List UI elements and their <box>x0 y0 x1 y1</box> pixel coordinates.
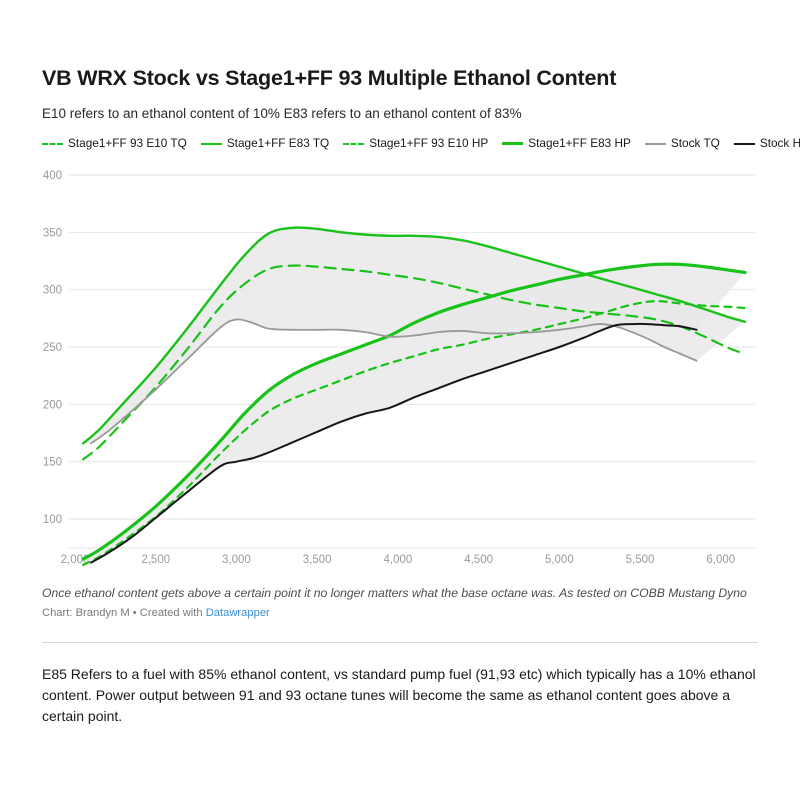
chart-page: VB WRX Stock vs Stage1+FF 93 Multiple Et… <box>0 0 800 800</box>
legend-label: Stock TQ <box>671 138 720 150</box>
legend-swatch-icon <box>645 143 666 145</box>
legend-swatch-icon <box>42 143 63 145</box>
legend-swatch-icon <box>502 142 523 145</box>
legend-swatch-icon <box>201 143 222 145</box>
legend-item-3[interactable]: Stage1+FF E83 HP <box>502 138 631 150</box>
x-axis-tick-label: 2,500 <box>141 554 170 566</box>
line-chart-svg: 1001502002503003504002,0002,5003,0003,50… <box>0 160 800 570</box>
y-axis-tick-label: 150 <box>43 457 62 469</box>
x-axis-tick-label: 6,000 <box>706 554 735 566</box>
y-axis-tick-label: 300 <box>43 285 62 297</box>
legend-label: Stage1+FF 93 E10 HP <box>369 138 488 150</box>
chart-note: Once ethanol content gets above a certai… <box>42 585 758 601</box>
x-axis-tick-label: 3,000 <box>222 554 251 566</box>
page-title: VB WRX Stock vs Stage1+FF 93 Multiple Et… <box>42 66 616 92</box>
legend-item-4[interactable]: Stock TQ <box>645 138 720 150</box>
y-axis-tick-label: 250 <box>43 342 62 354</box>
datawrapper-link[interactable]: Datawrapper <box>206 607 270 619</box>
legend-item-2[interactable]: Stage1+FF 93 E10 HP <box>343 138 488 150</box>
body-paragraph: E85 Refers to a fuel with 85% ethanol co… <box>42 664 758 727</box>
section-divider <box>42 642 758 643</box>
y-axis-tick-label: 400 <box>43 170 62 182</box>
legend-label: Stage1+FF 93 E10 TQ <box>68 138 187 150</box>
legend-item-5[interactable]: Stock HP <box>734 138 800 150</box>
legend-swatch-icon <box>734 143 755 145</box>
x-axis-tick-label: 4,500 <box>464 554 493 566</box>
legend-label: Stage1+FF E83 TQ <box>227 138 329 150</box>
y-axis-tick-label: 200 <box>43 399 62 411</box>
legend-item-1[interactable]: Stage1+FF E83 TQ <box>201 138 329 150</box>
y-axis-tick-label: 100 <box>43 514 62 526</box>
x-axis-tick-label: 5,500 <box>626 554 655 566</box>
x-axis-tick-label: 3,500 <box>303 554 332 566</box>
legend-label: Stage1+FF E83 HP <box>528 138 631 150</box>
y-axis-tick-label: 350 <box>43 227 62 239</box>
chart-credit: Chart: Brandyn M • Created with Datawrap… <box>42 606 270 621</box>
legend-label: Stock HP <box>760 138 800 150</box>
chart-legend: Stage1+FF 93 E10 TQStage1+FF E83 TQStage… <box>42 138 800 150</box>
x-axis-tick-label: 5,000 <box>545 554 574 566</box>
plot-area: 1001502002503003504002,0002,5003,0003,50… <box>0 160 800 570</box>
x-axis-tick-label: 4,000 <box>384 554 413 566</box>
legend-swatch-icon <box>343 143 364 145</box>
chart-subtitle: E10 refers to an ethanol content of 10% … <box>42 105 522 123</box>
legend-item-0[interactable]: Stage1+FF 93 E10 TQ <box>42 138 187 150</box>
credit-prefix: Chart: Brandyn M • Created with <box>42 607 206 619</box>
